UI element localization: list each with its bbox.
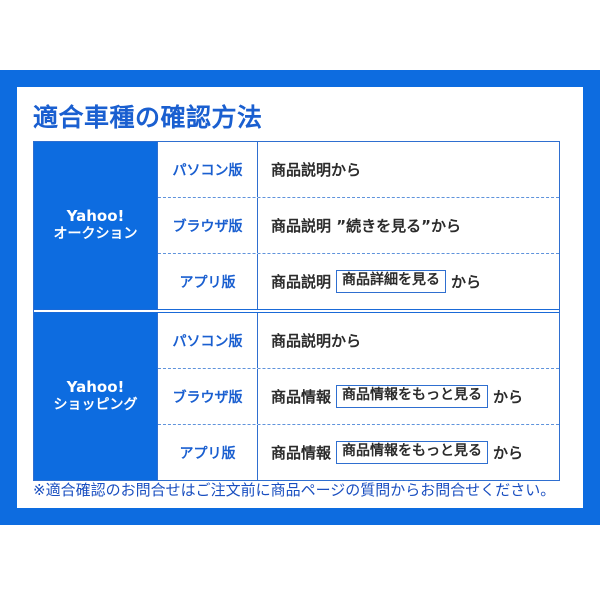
footer-note: ※適合確認のお問合せはご注文前に商品ページの質問からお問合せください。: [33, 479, 563, 500]
table-row: パソコン版 商品説明から: [158, 142, 559, 197]
brand-line2: オークション: [54, 226, 138, 244]
instruction-text-after: から: [493, 386, 523, 407]
brand-line1: Yahoo!: [54, 378, 138, 397]
instruction-cell: 商品情報 商品情報をもっと見る から: [258, 425, 559, 480]
instruction-text-before: 商品情報: [271, 386, 331, 407]
rows-auction: パソコン版 商品説明から ブラウザ版 商品説明 ”続きを見る”から アプリ版 商…: [158, 142, 559, 309]
rows-shopping: パソコン版 商品説明から ブラウザ版 商品情報 商品情報をもっと見る から アプ…: [158, 313, 559, 480]
ui-button-reference: 商品情報をもっと見る: [336, 441, 488, 464]
table-row: アプリ版 商品説明 商品詳細を見る から: [158, 253, 559, 309]
instruction-cell: 商品説明 ”続きを見る”から: [258, 198, 559, 253]
instruction-cell: 商品説明から: [258, 313, 559, 368]
brand-label-auction: Yahoo! オークション: [34, 142, 158, 309]
brand-line2: ショッピング: [54, 397, 138, 415]
section-yahoo-auction: Yahoo! オークション パソコン版 商品説明から ブラウザ版 商品説明 ”続…: [34, 142, 559, 309]
instruction-text-after: から: [451, 271, 481, 292]
infographic-root: 適合車種の確認方法 Yahoo! オークション パソコン版 商品説明から ブラウ…: [0, 0, 600, 600]
instruction-text-before: 商品情報: [271, 442, 331, 463]
table-row: アプリ版 商品情報 商品情報をもっと見る から: [158, 424, 559, 480]
section-yahoo-shopping: Yahoo! ショッピング パソコン版 商品説明から ブラウザ版 商品情報 商品…: [34, 309, 559, 480]
version-label: ブラウザ版: [158, 369, 258, 424]
instruction-cell: 商品説明から: [258, 142, 559, 197]
ui-button-reference: 商品情報をもっと見る: [336, 385, 488, 408]
ui-button-reference: 商品詳細を見る: [336, 270, 446, 293]
instruction-cell: 商品説明 商品詳細を見る から: [258, 254, 559, 309]
version-label: アプリ版: [158, 425, 258, 480]
version-label: パソコン版: [158, 142, 258, 197]
table-row: ブラウザ版 商品情報 商品情報をもっと見る から: [158, 368, 559, 424]
instruction-text-before: 商品説明から: [271, 330, 361, 351]
page-title: 適合車種の確認方法: [33, 98, 263, 134]
table-row: ブラウザ版 商品説明 ”続きを見る”から: [158, 197, 559, 253]
brand-line1: Yahoo!: [54, 207, 138, 226]
instruction-text-after: から: [493, 442, 523, 463]
instruction-text-before: 商品説明 ”続きを見る”から: [271, 215, 461, 236]
version-label: ブラウザ版: [158, 198, 258, 253]
version-label: アプリ版: [158, 254, 258, 309]
brand-label-shopping: Yahoo! ショッピング: [34, 313, 158, 480]
instruction-text-before: 商品説明: [271, 271, 331, 292]
instruction-cell: 商品情報 商品情報をもっと見る から: [258, 369, 559, 424]
version-label: パソコン版: [158, 313, 258, 368]
table-row: パソコン版 商品説明から: [158, 313, 559, 368]
compatibility-table: Yahoo! オークション パソコン版 商品説明から ブラウザ版 商品説明 ”続…: [33, 141, 560, 481]
instruction-text-before: 商品説明から: [271, 159, 361, 180]
